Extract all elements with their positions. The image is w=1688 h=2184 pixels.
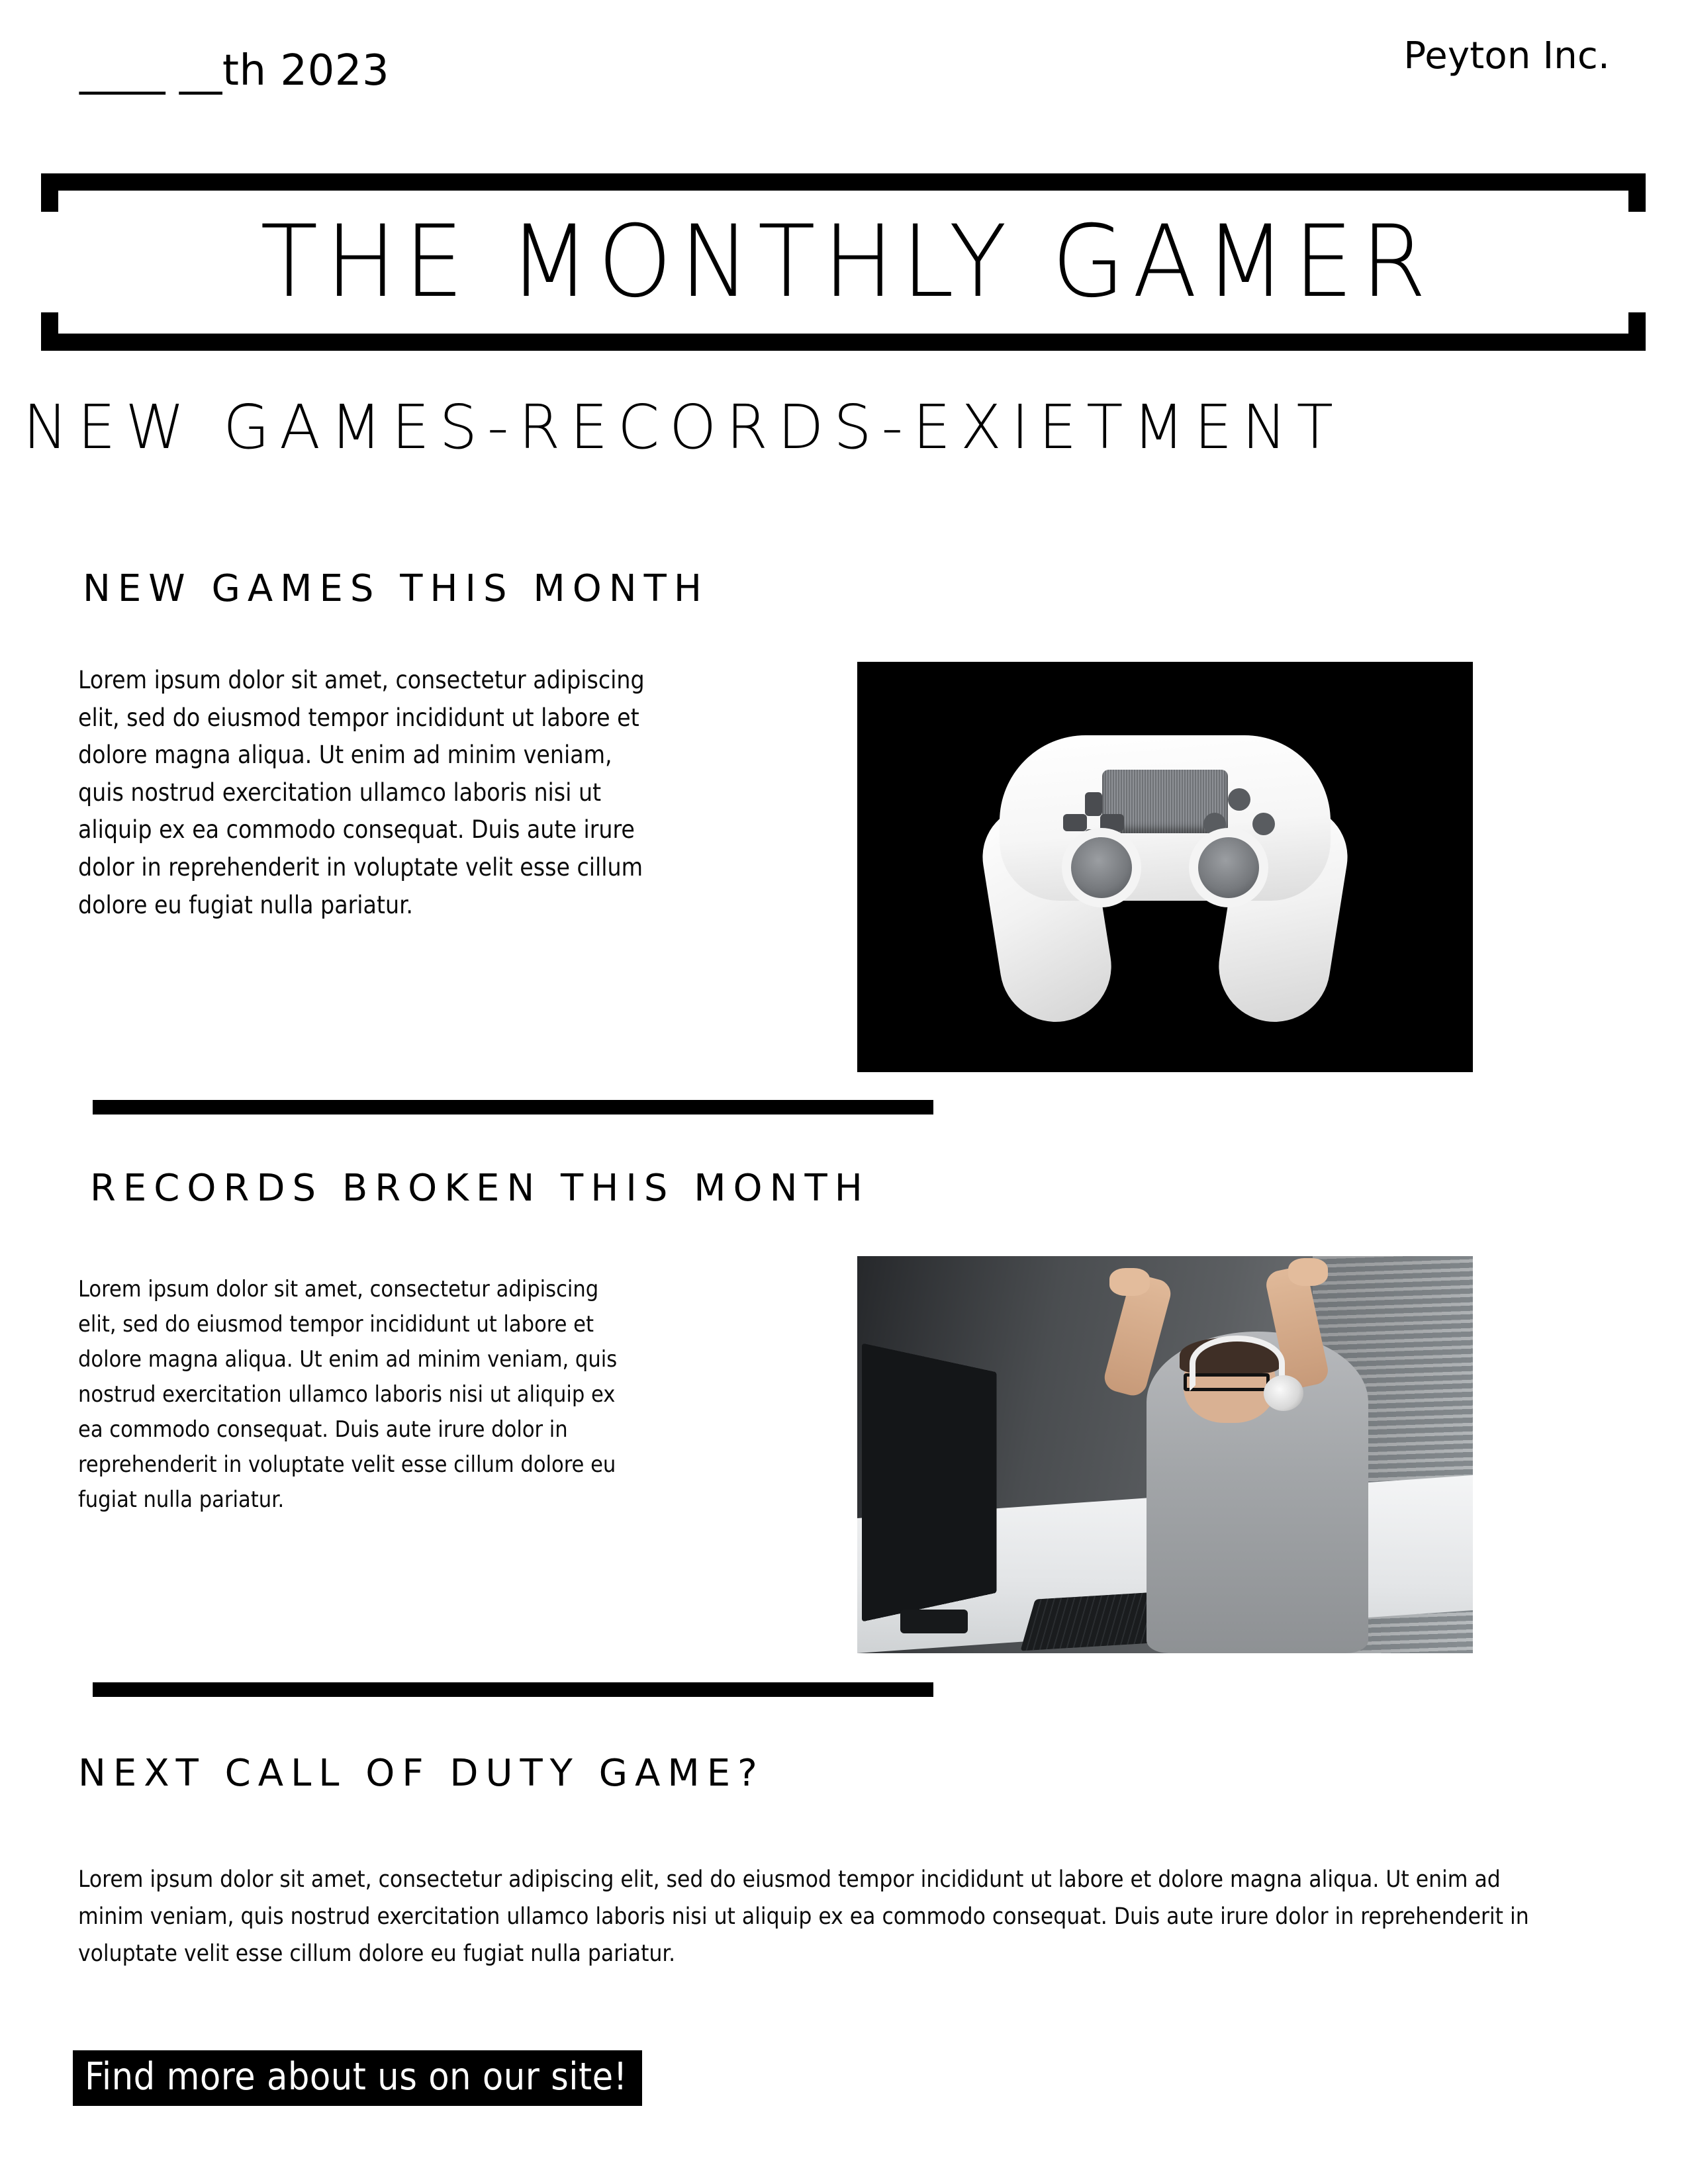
gamer-fist-left bbox=[1109, 1268, 1149, 1296]
section-body-records-broken: Lorem ipsum dolor sit amet, consectetur … bbox=[78, 1272, 634, 1518]
frame-bar-bottom bbox=[41, 334, 1646, 351]
controller-stick-left bbox=[1071, 837, 1132, 898]
section-body-next-cod-game: Lorem ipsum dolor sit amet, consectetur … bbox=[78, 1861, 1568, 1972]
issue-date: ____ __th 2023 bbox=[79, 46, 389, 95]
monitor bbox=[862, 1343, 996, 1621]
controller-body bbox=[1000, 735, 1331, 901]
gamer-scene-illustration bbox=[857, 1256, 1473, 1653]
section-heading-new-games: NEW GAMES THIS MONTH bbox=[83, 570, 709, 608]
monitor-stand bbox=[900, 1610, 968, 1633]
masthead-subtitle: NEW GAMES-RECORDS-EXIETMENT bbox=[13, 397, 1343, 458]
headphone-earcup bbox=[1264, 1375, 1303, 1411]
frame-corner-bottom-left bbox=[41, 312, 58, 351]
site-cta-banner[interactable]: Find more about us on our site! bbox=[73, 2050, 642, 2106]
controller-stick-right bbox=[1198, 837, 1259, 898]
publisher-name: Peyton Inc. bbox=[1403, 34, 1610, 77]
masthead-title-frame: THE MONTHLY GAMER bbox=[41, 173, 1646, 351]
section-heading-next-cod-game: NEXT CALL OF DUTY GAME? bbox=[78, 1755, 765, 1792]
frame-corner-top-right bbox=[1628, 173, 1646, 212]
frame-bar-top bbox=[41, 173, 1646, 191]
newsletter-page: ____ __th 2023 Peyton Inc. THE MONTHLY G… bbox=[0, 0, 1688, 2184]
section-heading-records-broken: RECORDS BROKEN THIS MONTH bbox=[90, 1170, 870, 1207]
section-divider bbox=[93, 1682, 933, 1697]
frame-corner-bottom-right bbox=[1628, 312, 1646, 351]
game-controller-photo bbox=[857, 662, 1473, 1072]
gamer-fist-right bbox=[1288, 1258, 1328, 1286]
controller-illustration bbox=[980, 711, 1350, 1023]
frame-corner-top-left bbox=[41, 173, 58, 212]
celebrating-gamer-photo bbox=[857, 1256, 1473, 1653]
masthead-topbar: ____ __th 2023 Peyton Inc. bbox=[0, 46, 1688, 119]
section-divider bbox=[93, 1100, 933, 1115]
section-body-new-games: Lorem ipsum dolor sit amet, consectetur … bbox=[78, 662, 661, 924]
masthead-title: THE MONTHLY GAMER bbox=[81, 212, 1606, 312]
